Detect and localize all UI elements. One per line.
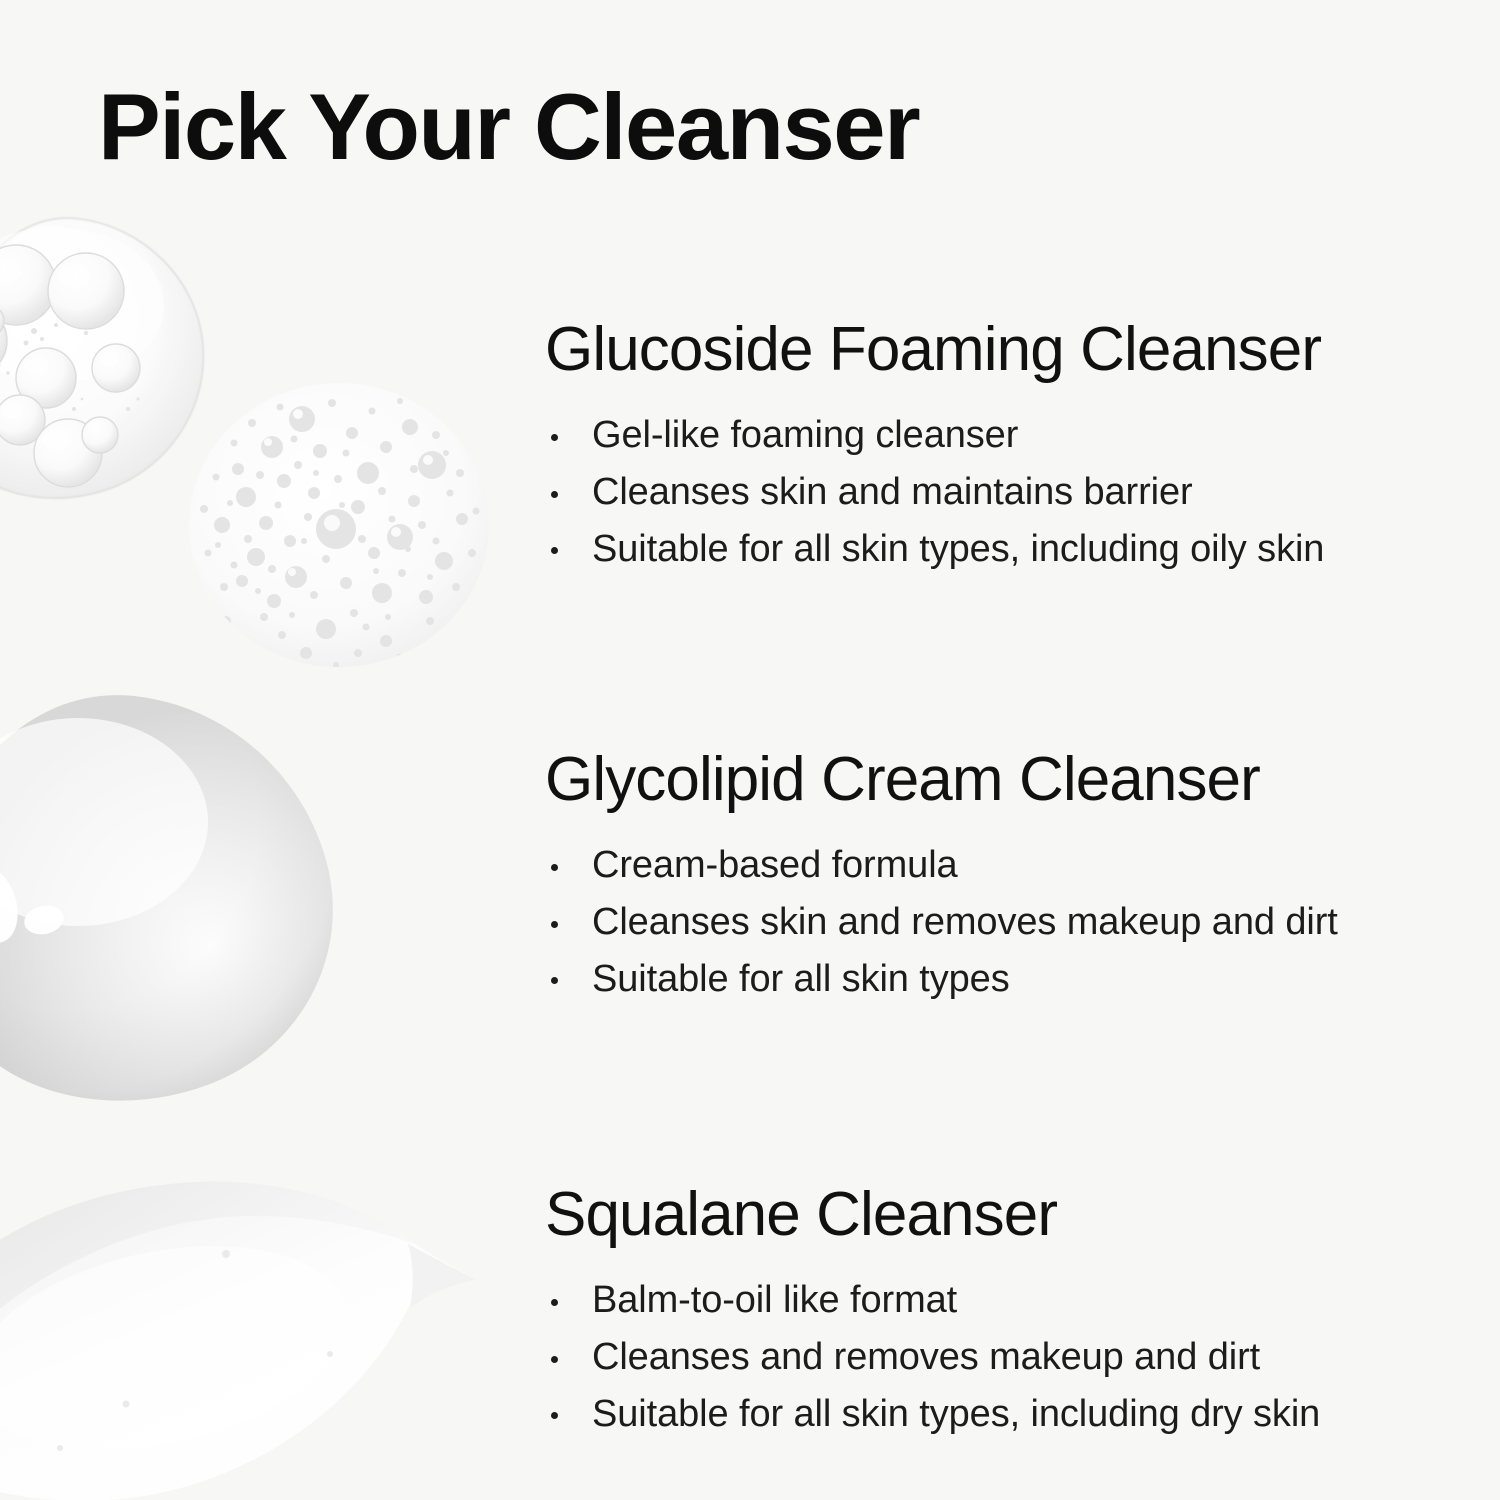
bullet-dot-icon (551, 1356, 558, 1363)
cleanser-comparison-infographic: Pick Your Cleanser (0, 0, 1500, 1500)
bullet-text: Suitable for all skin types, including o… (592, 528, 1324, 570)
bullet-item: Cream-based formula (545, 840, 1425, 891)
bullet-item: Gel-like foaming cleanser (545, 410, 1425, 461)
bullet-dot-icon (551, 864, 558, 871)
bullet-text: Suitable for all skin types, including d… (592, 1393, 1320, 1435)
bullet-dot-icon (551, 1299, 558, 1306)
cream-dollop-image (0, 692, 346, 1104)
foam-circle-image (186, 381, 492, 669)
bullet-item: Suitable for all skin types, including o… (545, 524, 1425, 575)
section-bullet-list: Cream-based formula Cleanses skin and re… (545, 840, 1425, 1004)
section-heading: Glycolipid Cream Cleanser (545, 745, 1425, 814)
bullet-item: Suitable for all skin types (545, 954, 1425, 1005)
bullet-text: Cleanses skin and removes makeup and dir… (592, 901, 1338, 943)
balm-swipe-image (0, 1148, 510, 1500)
section-squalane-cleanser: Squalane Cleanser Balm-to-oil like forma… (545, 1180, 1425, 1445)
bullet-text: Balm-to-oil like format (592, 1279, 957, 1321)
page-title: Pick Your Cleanser (98, 78, 919, 177)
bullet-dot-icon (551, 434, 558, 441)
section-heading: Squalane Cleanser (545, 1180, 1425, 1249)
bullet-text: Suitable for all skin types (592, 958, 1010, 1000)
bullet-item: Suitable for all skin types, including d… (545, 1389, 1425, 1440)
bullet-dot-icon (551, 547, 558, 554)
bullet-text: Cleanses and removes makeup and dirt (592, 1336, 1260, 1378)
bullet-item: Cleanses skin and removes makeup and dir… (545, 897, 1425, 948)
bullet-item: Cleanses skin and maintains barrier (545, 467, 1425, 518)
section-heading: Glucoside Foaming Cleanser (545, 315, 1425, 384)
section-glucoside-foaming-cleanser: Glucoside Foaming Cleanser Gel-like foam… (545, 315, 1425, 580)
bullet-text: Gel-like foaming cleanser (592, 414, 1018, 456)
section-bullet-list: Gel-like foaming cleanser Cleanses skin … (545, 410, 1425, 574)
bullet-dot-icon (551, 1412, 558, 1419)
bullet-dot-icon (551, 491, 558, 498)
bullet-item: Cleanses and removes makeup and dirt (545, 1332, 1425, 1383)
section-glycolipid-cream-cleanser: Glycolipid Cream Cleanser Cream-based fo… (545, 745, 1425, 1010)
bullet-dot-icon (551, 921, 558, 928)
section-bullet-list: Balm-to-oil like format Cleanses and rem… (545, 1275, 1425, 1439)
bullet-item: Balm-to-oil like format (545, 1275, 1425, 1326)
bullet-text: Cream-based formula (592, 844, 958, 886)
bullet-dot-icon (551, 977, 558, 984)
gel-droplet-with-bubbles-image (0, 213, 216, 505)
bullet-text: Cleanses skin and maintains barrier (592, 471, 1193, 513)
